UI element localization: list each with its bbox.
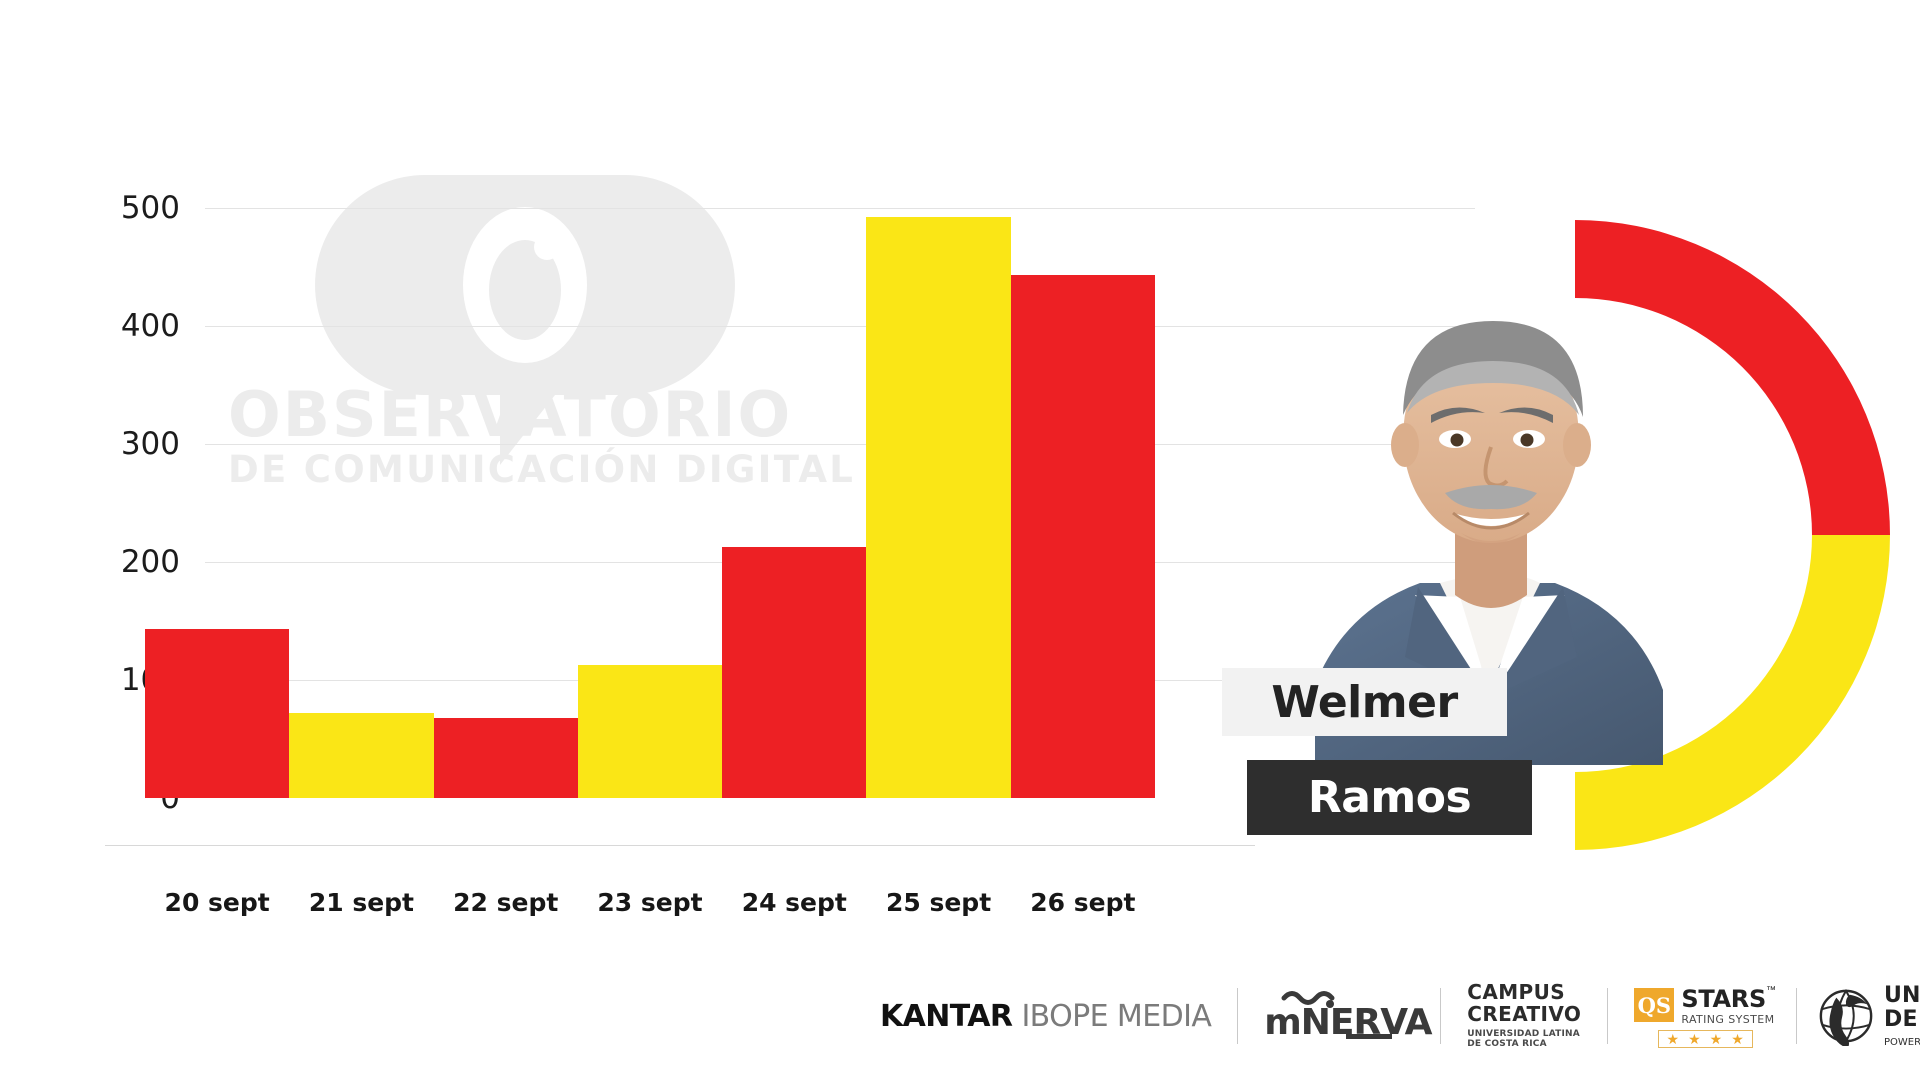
- bar-22-sept: [434, 718, 578, 798]
- x-axis-tick-label: 20 sept: [145, 888, 289, 917]
- x-axis-tick-label: 25 sept: [866, 888, 1010, 917]
- x-axis-line: [105, 845, 1255, 846]
- ibope-media-wordmark: IBOPE MEDIA: [1021, 999, 1211, 1034]
- divider: [1237, 988, 1238, 1044]
- qs-star-rating: ★★★★: [1658, 1030, 1753, 1048]
- star-icon: ★: [1731, 1032, 1744, 1046]
- x-axis-tick-label: 22 sept: [434, 888, 578, 917]
- bar-20-sept: [145, 629, 289, 798]
- first-name-label: Welmer: [1271, 677, 1457, 728]
- qs-trademark: ™: [1766, 985, 1776, 996]
- kantar-wordmark: KANTAR: [880, 999, 1012, 1034]
- bar-26-sept: [1011, 275, 1155, 798]
- bar-24-sept: [722, 547, 866, 798]
- logo-universidad-latina: UNIVERSIDAD LATINA DE COSTA RICA POWERED…: [1817, 984, 1920, 1048]
- x-axis-tick-label: 26 sept: [1011, 888, 1155, 917]
- qs-stars-title: STARS: [1681, 985, 1766, 1013]
- last-name-label: Ramos: [1308, 772, 1471, 823]
- logo-campus-creativo: CAMPUS CREATIVO UNIVERSIDAD LATINA DE CO…: [1467, 982, 1581, 1049]
- name-plate-first: Welmer: [1222, 668, 1507, 736]
- bar-21-sept: [289, 713, 433, 798]
- campus-sub1: UNIVERSIDAD LATINA: [1467, 1029, 1580, 1039]
- ulatina-line1: UNIVERSIDAD LATINA: [1884, 984, 1920, 1008]
- bar-25-sept: [866, 217, 1010, 798]
- divider: [1440, 988, 1441, 1044]
- logo-minerva: mNERVA: [1264, 986, 1414, 1046]
- x-axis-tick-label: 21 sept: [289, 888, 433, 917]
- star-icon: ★: [1667, 1032, 1680, 1046]
- star-icon: ★: [1710, 1032, 1723, 1046]
- qs-rating-subtitle: RATING SYSTEM: [1681, 1013, 1774, 1026]
- bar-23-sept: [578, 665, 722, 798]
- x-axis-tick-label: 23 sept: [578, 888, 722, 917]
- star-icon: ★: [1688, 1032, 1701, 1046]
- y-axis-tick-label: 400: [60, 308, 180, 344]
- campus-line1: CAMPUS: [1467, 982, 1565, 1003]
- qs-badge: QS: [1634, 988, 1674, 1022]
- footer-logo-bar: KANTAR IBOPE MEDIA mNERVA CAMPUS CREATIV…: [880, 975, 1890, 1057]
- divider: [1607, 988, 1608, 1044]
- minerva-wordmark: mNERVA: [1264, 1002, 1431, 1043]
- campus-line2: CREATIVO: [1467, 1004, 1581, 1025]
- y-axis-tick-label: 200: [60, 544, 180, 580]
- globe-icon: [1817, 986, 1875, 1046]
- grid-line: [205, 208, 1475, 209]
- y-axis-tick-label: 500: [60, 190, 180, 226]
- name-plate-last: Ramos: [1247, 760, 1532, 835]
- logo-kantar-ibope-media: KANTAR IBOPE MEDIA: [880, 999, 1211, 1034]
- divider: [1796, 988, 1797, 1044]
- campus-sub2: DE COSTA RICA: [1467, 1039, 1546, 1049]
- ulatina-line2: DE COSTA RICA: [1884, 1008, 1920, 1032]
- powered-by-prefix: POWERED BY: [1884, 1037, 1920, 1048]
- y-axis-tick-label: 300: [60, 426, 180, 462]
- x-axis-tick-label: 24 sept: [722, 888, 866, 917]
- infographic-canvas: OBSERVATORIO DE COMUNICACIÓN DIGITAL 010…: [0, 0, 1920, 1080]
- logo-qs-stars: QS STARS ™ RATING SYSTEM ★★★★: [1634, 985, 1776, 1048]
